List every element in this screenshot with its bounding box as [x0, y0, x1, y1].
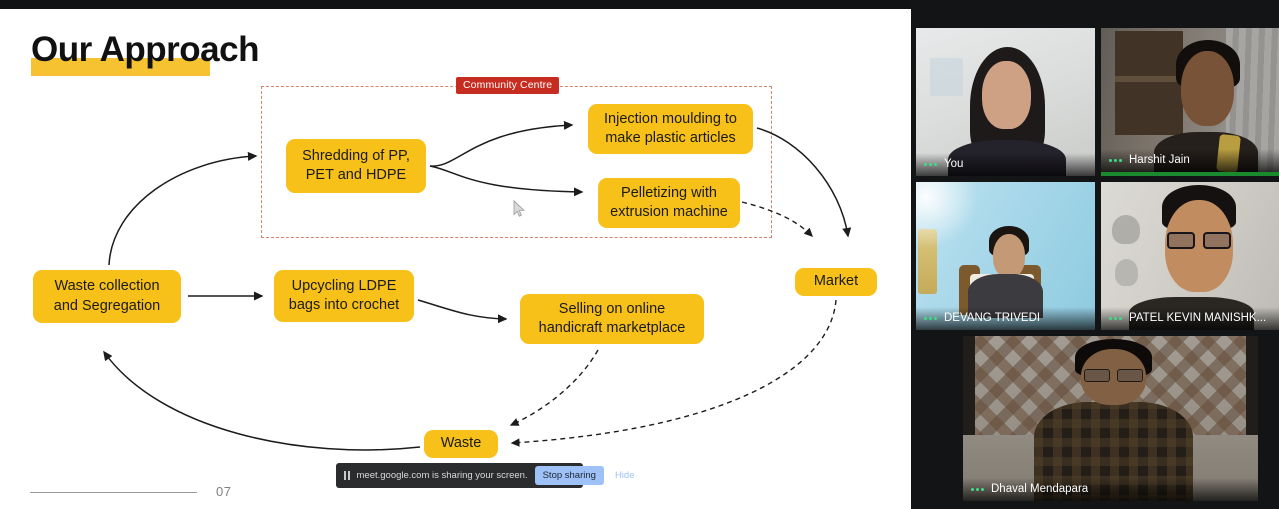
- participant-name: You: [944, 158, 963, 170]
- participant-video-panel: You Harshit Jain: [911, 0, 1279, 509]
- node-market: Market: [795, 268, 877, 296]
- node-waste-collection: Waste collection and Segregation: [33, 270, 181, 323]
- pause-icon: [344, 471, 350, 480]
- tile-label: Harshit Jain: [1101, 149, 1279, 172]
- footer-rule: [30, 492, 197, 493]
- mouse-pointer-icon: [513, 200, 526, 218]
- video-tile-you[interactable]: You: [916, 28, 1095, 176]
- video-tile-patel-kevin[interactable]: PATEL KEVIN MANISHK...: [1101, 182, 1279, 330]
- tile-label: DEVANG TRIVEDI: [916, 307, 1095, 330]
- glasses-icon: [1167, 232, 1231, 248]
- page-title: Our Approach: [31, 30, 259, 70]
- participant-name: Dhaval Mendapara: [991, 483, 1088, 495]
- participant-name: Harshit Jain: [1129, 154, 1190, 166]
- stop-sharing-button[interactable]: Stop sharing: [535, 466, 604, 485]
- tile-label: PATEL KEVIN MANISHK...: [1101, 307, 1279, 330]
- share-status-text: meet.google.com is sharing your screen.: [357, 470, 528, 481]
- node-injection-moulding: Injection moulding to make plastic artic…: [588, 104, 753, 154]
- video-tile-dhaval-mendapara[interactable]: Dhaval Mendapara: [963, 336, 1258, 501]
- tile-label: You: [916, 153, 1095, 176]
- node-upcycling: Upcycling LDPE bags into crochet: [274, 270, 414, 322]
- node-waste: Waste: [424, 430, 498, 458]
- video-tile-harshit-jain[interactable]: Harshit Jain: [1101, 28, 1279, 176]
- video-feed: [963, 336, 1258, 501]
- participant-name: PATEL KEVIN MANISHK...: [1129, 312, 1266, 324]
- mic-activity-dots-icon: [1109, 317, 1122, 320]
- mic-activity-dots-icon: [1109, 159, 1122, 162]
- shared-slide-area: Our Approach Community Centre: [0, 0, 911, 509]
- screen-share-bar: meet.google.com is sharing your screen. …: [336, 463, 583, 488]
- node-pelletizing: Pelletizing with extrusion machine: [598, 178, 740, 228]
- video-tile-devang-trivedi[interactable]: DEVANG TRIVEDI: [916, 182, 1095, 330]
- slide-top-letterbox: [0, 0, 911, 9]
- participant-name: DEVANG TRIVEDI: [944, 312, 1040, 324]
- hide-button[interactable]: Hide: [611, 470, 639, 481]
- node-shredding: Shredding of PP, PET and HDPE: [286, 139, 426, 193]
- tile-label: Dhaval Mendapara: [963, 478, 1258, 501]
- mic-activity-dots-icon: [924, 163, 937, 166]
- node-selling-online: Selling on online handicraft marketplace: [520, 294, 704, 344]
- community-centre-badge: Community Centre: [456, 77, 559, 94]
- mic-activity-dots-icon: [924, 317, 937, 320]
- mic-activity-dots-icon: [971, 488, 984, 491]
- page-number: 07: [216, 484, 231, 499]
- screen: Our Approach Community Centre: [0, 0, 1279, 509]
